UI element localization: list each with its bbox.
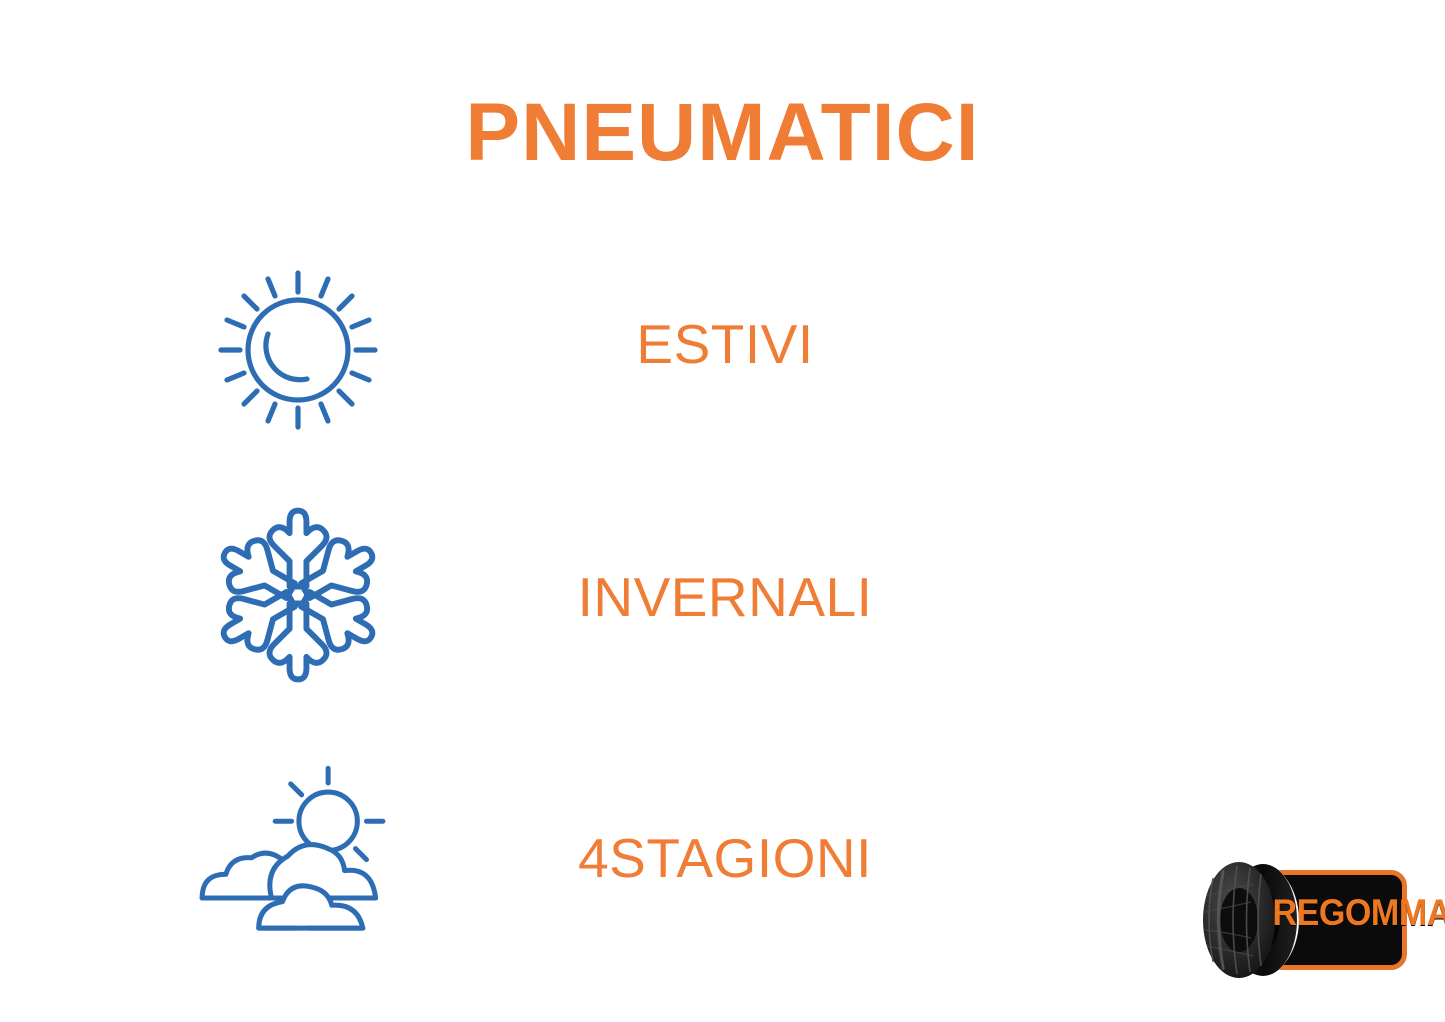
logo-wordmark: REGOMMA	[1273, 894, 1400, 931]
regomma-logo[interactable]: REGOMMA	[1193, 856, 1415, 984]
tyre-category-row-invernali[interactable]: INVERNALI	[0, 495, 1445, 695]
category-label-estivi: ESTIVI	[445, 244, 1005, 444]
tyre-category-row-estivi[interactable]: ESTIVI	[0, 250, 1445, 450]
category-label-invernali: INVERNALI	[445, 497, 1005, 697]
page-title: PNEUMATICI	[0, 92, 1445, 174]
category-label-4stagioni: 4STAGIONI	[445, 758, 1005, 958]
sun-icon	[190, 250, 405, 450]
snowflake-icon	[190, 495, 405, 695]
sun-behind-clouds-icon	[190, 750, 405, 950]
poster-canvas: PNEUMATICI	[0, 0, 1445, 1022]
